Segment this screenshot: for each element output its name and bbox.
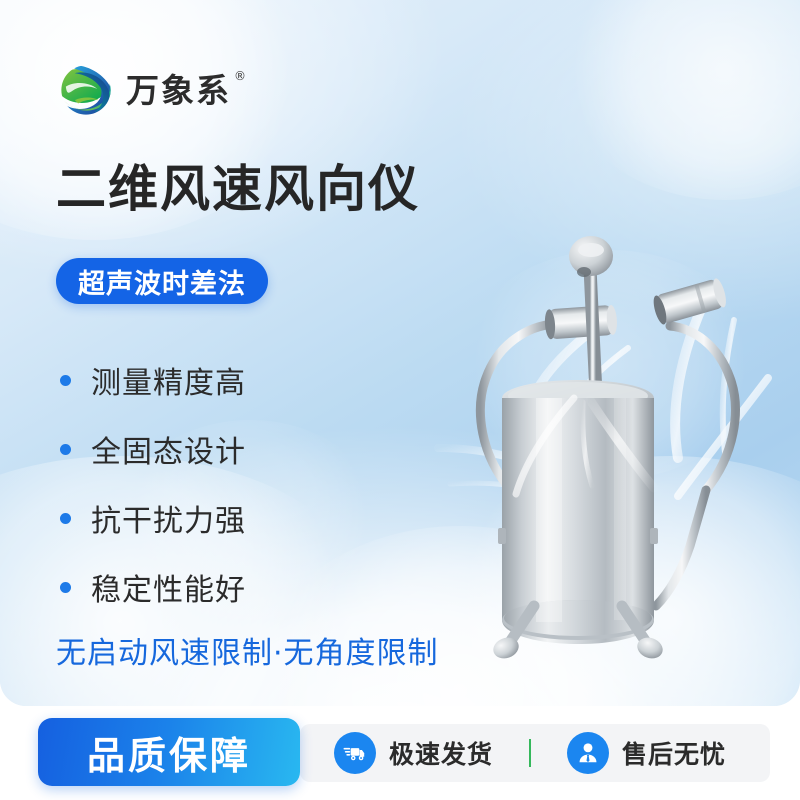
quality-guarantee-label: 品质保障	[87, 725, 251, 780]
delivery-truck-icon	[334, 732, 376, 774]
list-item: 测量精度高	[60, 358, 246, 402]
service-label: 极速发货	[389, 735, 493, 771]
bullet-dot-icon	[60, 582, 71, 593]
service-panel: 极速发货 售后无忧	[300, 724, 770, 782]
product-poster: 万象系® 二维风速风向仪 超声波时差法 测量精度高 全固态设计 抗干扰力强	[0, 0, 800, 800]
product-image-ultrasonic-anemometer	[378, 198, 778, 668]
cloud-decoration	[560, 0, 800, 200]
bullet-dot-icon	[60, 513, 71, 524]
service-label: 售后无忧	[622, 735, 726, 771]
technology-badge: 超声波时差法	[56, 258, 268, 304]
feature-label: 抗干扰力强	[91, 496, 246, 540]
cloud-decoration	[250, 526, 670, 706]
feature-list: 测量精度高 全固态设计 抗干扰力强 稳定性能好	[60, 358, 246, 609]
quality-guarantee-button[interactable]: 品质保障	[38, 718, 300, 786]
hero-panel: 万象系® 二维风速风向仪 超声波时差法 测量精度高 全固态设计 抗干扰力强	[0, 0, 800, 706]
cloud-decoration	[460, 250, 760, 480]
customer-service-person-icon	[567, 732, 609, 774]
bullet-dot-icon	[60, 444, 71, 455]
list-item: 抗干扰力强	[60, 496, 246, 540]
registered-trademark-icon: ®	[234, 70, 248, 82]
brand-name: 万象系®	[126, 74, 231, 107]
service-divider	[529, 739, 531, 767]
feature-label: 稳定性能好	[91, 565, 246, 609]
trust-bar: 品质保障 极速发货	[0, 706, 800, 800]
bullet-dot-icon	[60, 375, 71, 386]
feature-label: 测量精度高	[91, 358, 246, 402]
globe-swirl-logo-icon	[58, 62, 114, 118]
list-item: 稳定性能好	[60, 565, 246, 609]
service-fast-shipping[interactable]: 极速发货	[334, 732, 493, 774]
tagline: 无启动风速限制·无角度限制	[56, 628, 439, 672]
brand-logo: 万象系®	[58, 62, 231, 118]
list-item: 全固态设计	[60, 427, 246, 471]
technology-badge-label: 超声波时差法	[78, 262, 246, 301]
service-after-sales[interactable]: 售后无忧	[567, 732, 726, 774]
cloud-decoration	[430, 456, 800, 706]
page-title: 二维风速风向仪	[56, 162, 420, 217]
feature-label: 全固态设计	[91, 427, 246, 471]
